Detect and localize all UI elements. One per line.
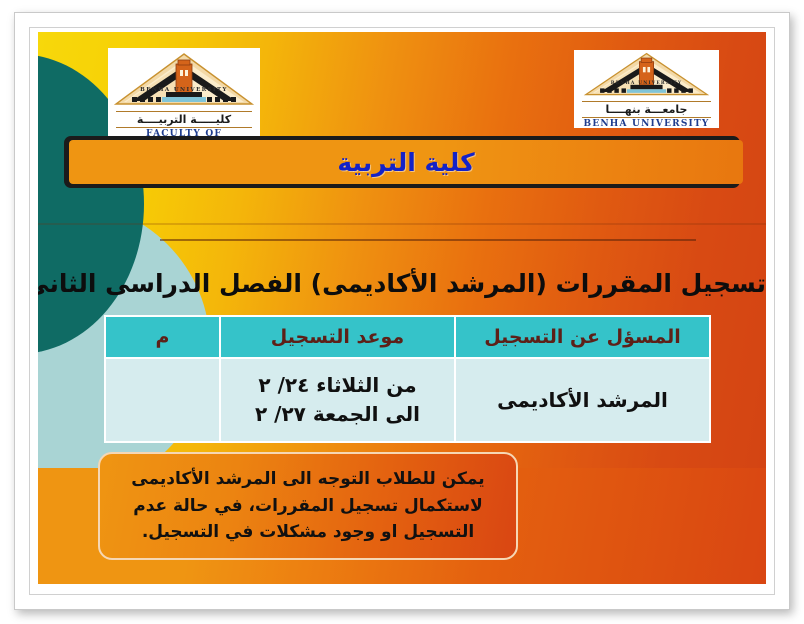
logo-divider-2	[582, 117, 711, 118]
university-logo-arabic-caption: جامعـــة بنهــــا	[574, 103, 719, 116]
column-header-date: موعد التسجيل	[220, 316, 455, 358]
emblem-subtext: BENHA UNIVERSITY	[140, 87, 228, 93]
note-text: يمكن للطلاب التوجه الى المرشد الأكاديمى …	[100, 466, 516, 545]
table-row: المرشد الأكاديمى من الثلاثاء ٢٤/ ٢ الى ا…	[105, 358, 710, 442]
faculty-logo-arabic-caption: كليـــــة التربيــــة	[108, 113, 260, 126]
university-logo-english-caption: BENHA UNIVERSITY	[574, 119, 719, 128]
cell-date-line1: من الثلاثاء ٢٤/ ٢	[227, 371, 448, 400]
note-callout-box: يمكن للطلاب التوجه الى المرشد الأكاديمى …	[98, 452, 518, 560]
benha-university-pyramid-emblem-icon: BENHA UNIVERSITY	[108, 48, 260, 110]
background-seam-line	[38, 223, 766, 225]
cell-number	[105, 358, 220, 442]
title-banner: كلية التربية	[69, 140, 743, 184]
section-divider	[160, 239, 696, 241]
picture-frame: BENHA UNIVERSITY كليـــــة التربيــــة F…	[0, 0, 804, 624]
column-header-owner: المسؤل عن التسجيل	[455, 316, 710, 358]
cell-date: من الثلاثاء ٢٤/ ٢ الى الجمعة ٢٧/ ٢	[220, 358, 455, 442]
table-header-row: المسؤل عن التسجيل موعد التسجيل م	[105, 316, 710, 358]
emblem-subtext: BENHA UNIVERSITY	[611, 80, 682, 86]
registration-table-wrapper: المسؤل عن التسجيل موعد التسجيل م المرشد …	[106, 315, 711, 443]
logo-divider-2	[116, 127, 252, 128]
logo-divider	[582, 101, 711, 102]
presentation-slide: BENHA UNIVERSITY كليـــــة التربيــــة F…	[38, 32, 766, 584]
faculty-logo: BENHA UNIVERSITY كليـــــة التربيــــة F…	[108, 48, 260, 142]
column-header-number: م	[105, 316, 220, 358]
cell-owner: المرشد الأكاديمى	[455, 358, 710, 442]
university-logo: BENHA UNIVERSITY جامعـــة بنهــــا BENHA…	[574, 50, 719, 128]
page-title: كلية التربية	[337, 150, 474, 175]
logo-divider	[116, 111, 252, 112]
registration-table: المسؤل عن التسجيل موعد التسجيل م المرشد …	[104, 315, 711, 443]
cell-date-line2: الى الجمعة ٢٧/ ٢	[227, 400, 448, 429]
benha-university-pyramid-emblem-icon: BENHA UNIVERSITY	[574, 50, 719, 100]
section-heading: تسجيل المقررات (المرشد الأكاديمى) الفصل …	[38, 270, 766, 298]
